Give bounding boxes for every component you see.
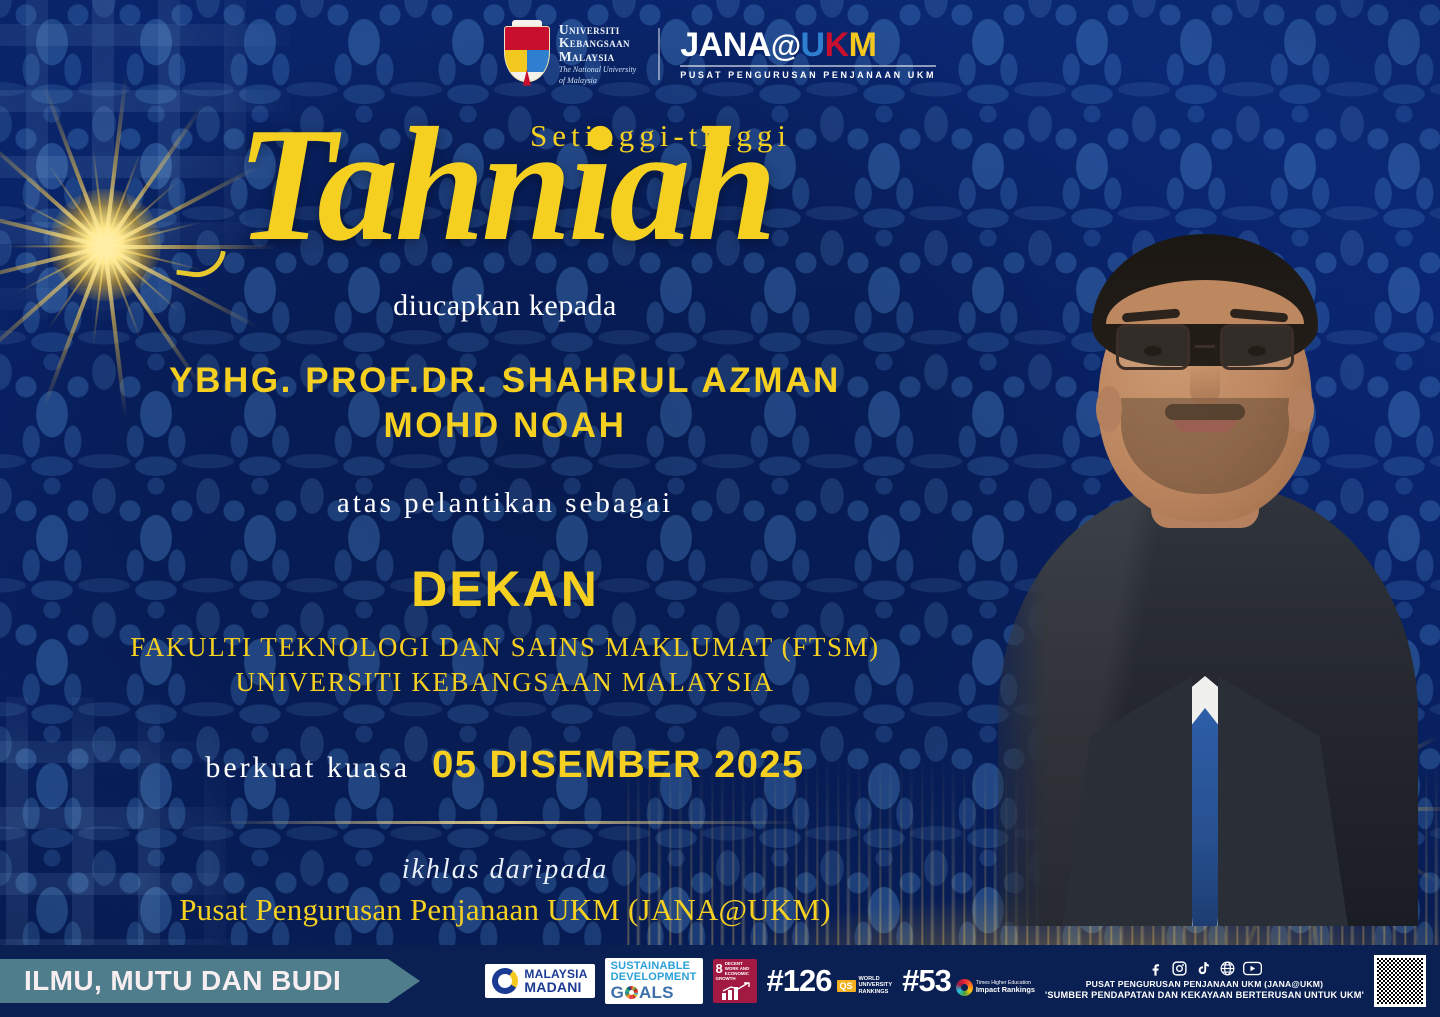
globe-icon[interactable] xyxy=(1219,960,1236,977)
addressed-to-label: diucapkan kepada xyxy=(0,289,1010,323)
appointment-label: atas pelantikan sebagai xyxy=(0,487,1010,520)
ukm-crest-icon xyxy=(504,26,550,82)
honoree-portrait xyxy=(970,96,1440,926)
contact-line2: 'SUMBER PENDAPATAN DAN KEKAYAAN BERTERUS… xyxy=(1045,990,1364,1002)
header-logos: Universiti Kebangsaan Malaysia The Natio… xyxy=(0,18,1440,90)
ukm-logo: Universiti Kebangsaan Malaysia The Natio… xyxy=(504,23,636,86)
congratulations-poster: Universiti Kebangsaan Malaysia The Natio… xyxy=(0,0,1440,1017)
tiktok-icon[interactable] xyxy=(1195,960,1212,977)
youtube-icon[interactable] xyxy=(1243,961,1262,976)
the-rank-number: #53 xyxy=(902,966,951,995)
eyebrow-text: Setinggi-tinggi xyxy=(530,118,791,154)
qs-label-line2: UNIVERSITY xyxy=(859,982,893,989)
sdg-line3: G xyxy=(611,984,624,1001)
qs-label-line1: WORLD xyxy=(859,976,893,983)
facebook-icon[interactable] xyxy=(1147,960,1164,977)
headline-tahniah: Tahniah xyxy=(0,104,1010,267)
jana-letter-u: U xyxy=(801,28,825,62)
honoree-name-line1: YBHG. PROF.DR. SHAHRUL AZMAN xyxy=(0,359,1010,404)
qr-code[interactable] xyxy=(1374,955,1426,1007)
organisation-line2: UNIVERSITI KEBANGSAAN MALAYSIA xyxy=(0,665,1010,700)
malaysia-madani-logo: MALAYSIA MADANI xyxy=(485,964,594,999)
qs-label-line3: RANKINGS xyxy=(859,989,893,996)
the-ring-icon xyxy=(956,979,973,996)
organisation: FAKULTI TEKNOLOGI DAN SAINS MAKLUMAT (FT… xyxy=(0,630,1010,700)
sdg-line2: DEVELOPMENT xyxy=(611,972,697,983)
motto-banner: ILMU, MUTU DAN BUDI xyxy=(0,959,420,1003)
instagram-icon[interactable] xyxy=(1171,960,1188,977)
growth-chart-icon xyxy=(721,982,751,1000)
contact-line1: PUSAT PENGURUSAN PENJANAAN UKM (JANA@UKM… xyxy=(1045,979,1364,990)
sdg-color-wheel-icon xyxy=(625,986,638,999)
university-name-line3: Malaysia xyxy=(559,50,636,64)
effective-label: berkuat kuasa xyxy=(205,751,410,785)
honoree-name: YBHG. PROF.DR. SHAHRUL AZMAN MOHD NOAH xyxy=(0,359,1010,449)
gold-divider xyxy=(210,821,800,824)
sdg-goal-8-badge: 8 DECENT WORK AND ECONOMIC GROWTH xyxy=(713,959,757,1003)
the-label-line2: Impact Rankings xyxy=(976,986,1035,995)
malaysia-madani-icon xyxy=(492,968,518,994)
honoree-name-line2: MOHD NOAH xyxy=(0,404,1010,449)
jana-letter-k: K xyxy=(825,28,849,62)
social-and-contact: PUSAT PENGURUSAN PENJANAAN UKM (JANA@UKM… xyxy=(1045,960,1364,1002)
sdg8-number: 8 xyxy=(716,962,723,975)
university-name-line2: Kebangsaan xyxy=(559,36,636,50)
motto-text: ILMU, MUTU DAN BUDI xyxy=(24,965,341,997)
main-content: Setinggi-tinggi Tahniah diucapkan kepada… xyxy=(0,96,1010,928)
effective-date-row: berkuat kuasa 05 DISEMBER 2025 xyxy=(0,744,1010,787)
jana-ukm-logo: JANA@UKM PUSAT PENGURUSAN PENJANAAN UKM xyxy=(658,28,936,80)
jana-subtitle: PUSAT PENGURUSAN PENJANAAN UKM xyxy=(680,70,936,80)
university-name-line1: Universiti xyxy=(559,23,636,37)
jana-letter-m: M xyxy=(849,28,877,62)
jana-word: JANA xyxy=(680,28,771,62)
signoff-from: Pusat Pengurusan Penjanaan UKM (JANA@UKM… xyxy=(0,892,1010,928)
footer-right-group: MALAYSIA MADANI SUSTAINABLE DEVELOPMENT … xyxy=(485,955,1440,1007)
qs-ranking: #126 QS WORLD UNIVERSITY RANKINGS xyxy=(767,966,893,995)
at-symbol: @ xyxy=(771,30,801,61)
qs-rank-number: #126 xyxy=(767,966,832,995)
sdg-line3b: ALS xyxy=(639,984,674,1001)
malaysia-madani-line2: MADANI xyxy=(524,980,587,994)
jana-divider xyxy=(680,65,936,67)
university-tagline-line1: The National University xyxy=(559,66,636,75)
the-impact-ranking: #53 Times Higher Education Impact Rankin… xyxy=(902,966,1035,995)
university-tagline-line2: of Malaysia xyxy=(559,77,636,86)
effective-date: 05 DISEMBER 2025 xyxy=(432,744,805,787)
organisation-line1: FAKULTI TEKNOLOGI DAN SAINS MAKLUMAT (FT… xyxy=(0,630,1010,665)
qs-badge: QS xyxy=(837,980,856,992)
role-title: DEKAN xyxy=(0,560,1010,618)
sdg-logo: SUSTAINABLE DEVELOPMENT GALS xyxy=(605,958,703,1004)
footer-bar: ILMU, MUTU DAN BUDI MALAYSIA MADANI SUST… xyxy=(0,945,1440,1017)
social-icons xyxy=(1045,960,1364,977)
signoff-label: ikhlas daripada xyxy=(0,854,1010,886)
